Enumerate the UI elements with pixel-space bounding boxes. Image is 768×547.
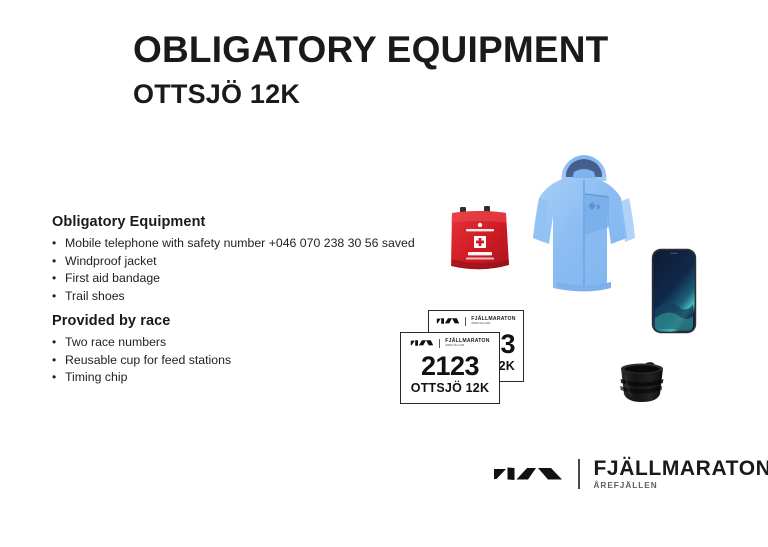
kia-logo-icon: [492, 461, 564, 487]
bib-brand-primary: FJÄLLMARATON: [471, 317, 515, 322]
title-subtitle: OTTSJÖ 12K: [133, 81, 608, 108]
bib-logo-divider: [465, 317, 466, 326]
logo-divider: [578, 459, 580, 489]
bib-brand-secondary: ÅREFJÄLLEN: [471, 323, 515, 326]
kia-logo-icon: [410, 339, 434, 347]
kia-logo-icon: [436, 317, 460, 325]
race-bib-front: FJÄLLMARATON ÅREFJÄLLEN 2123 OTTSJÖ 12K: [400, 332, 500, 404]
section-provided-by-race: Provided by race Two race numbers Reusab…: [52, 313, 231, 387]
bib-brand: FJÄLLMARATON ÅREFJÄLLEN: [471, 317, 515, 326]
footer-sponsor-logo: FJÄLLMARATON ÅREFJÄLLEN: [492, 458, 768, 490]
bib-number: 2123: [401, 351, 499, 381]
section-heading: Obligatory Equipment: [52, 214, 415, 230]
first-aid-kit-photo: [444, 201, 516, 281]
page-title: OBLIGATORY EQUIPMENT OTTSJÖ 12K: [133, 31, 608, 108]
list-item: Trail shoes: [52, 288, 415, 306]
windproof-jacket-photo: [529, 142, 639, 300]
bib-race-name: OTTSJÖ 12K: [401, 381, 499, 395]
bib-header: FJÄLLMARATON ÅREFJÄLLEN: [401, 333, 499, 349]
race-bib-back: FJÄLLMARATON ÅREFJÄLLEN 3 12K: [428, 310, 524, 382]
bib-brand-primary: FJÄLLMARATON: [445, 339, 489, 344]
slide-page: OBLIGATORY EQUIPMENT OTTSJÖ 12K Obligato…: [0, 0, 768, 547]
bib-logo-divider: [439, 339, 440, 348]
list-item: Two race numbers: [52, 334, 231, 352]
brand-secondary: ÅREFJÄLLEN: [594, 482, 768, 490]
bib-brand: FJÄLLMARATON ÅREFJÄLLEN: [445, 339, 489, 348]
list-item: Windproof jacket: [52, 253, 415, 271]
list-item: Reusable cup for feed stations: [52, 352, 231, 370]
reusable-cup-photo: [613, 357, 671, 405]
list-item: Timing chip: [52, 369, 231, 387]
list-item: Mobile telephone with safety number +046…: [52, 235, 415, 253]
title-main: OBLIGATORY EQUIPMENT: [133, 31, 608, 68]
bib-brand-secondary: ÅREFJÄLLEN: [445, 345, 489, 348]
bib-number: 3: [429, 329, 523, 359]
obligatory-equipment-list: Mobile telephone with safety number +046…: [52, 235, 415, 305]
brand-primary: FJÄLLMARATON: [594, 458, 768, 479]
section-obligatory-equipment: Obligatory Equipment Mobile telephone wi…: [52, 214, 415, 305]
provided-by-race-list: Two race numbers Reusable cup for feed s…: [52, 334, 231, 387]
section-heading: Provided by race: [52, 313, 231, 329]
fjallmaraton-wordmark: FJÄLLMARATON ÅREFJÄLLEN: [594, 458, 768, 490]
bib-header: FJÄLLMARATON ÅREFJÄLLEN: [429, 311, 523, 327]
list-item: First aid bandage: [52, 270, 415, 288]
bib-race-name: 12K: [429, 359, 523, 373]
mobile-phone-photo: [651, 248, 697, 334]
